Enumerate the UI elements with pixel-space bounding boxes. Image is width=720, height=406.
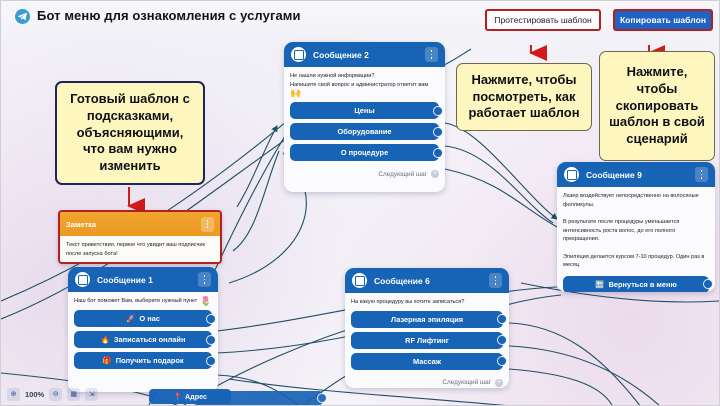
zoom-in-icon[interactable]: ⊕ [7,388,20,401]
card-body: Наш бот поможет Вам, выберите нужный пун… [68,292,218,373]
button-label: Вернуться в меню [609,280,677,289]
card-title: Сообщение 6 [374,276,430,286]
card-header[interactable]: Сообщение 6 [345,268,509,293]
button-label: Получить подарок [116,356,184,365]
add-step-icon[interactable]: + [495,379,503,387]
chart-icon[interactable]: ▦ [67,388,80,401]
output-port[interactable] [497,335,507,345]
output-port[interactable] [206,356,216,366]
output-port[interactable] [433,148,443,158]
button-equipment[interactable]: Оборудование [290,123,439,140]
add-step-icon[interactable]: + [431,170,439,178]
message-text: Не нашли нужной информации? Напишите сво… [290,72,439,89]
button-get-gift[interactable]: 🎁 Получить подарок [74,352,212,369]
button-label: Лазерная эпиляция [391,315,463,324]
button-rf-lifting[interactable]: RF Лифтинг [351,332,503,349]
button-book-online[interactable]: 🔥 Записаться онлайн [74,331,212,348]
address-label: Адрес [185,392,207,401]
gift-icon: 🎁 [102,356,111,365]
card-menu-icon[interactable] [425,47,438,62]
card-menu-icon[interactable] [489,273,502,288]
telegram-icon [15,9,30,24]
button-label: О процедуре [341,148,388,157]
button-label: Цены [354,106,374,115]
callout-left: Готовый шаблон с подсказками, объясняющи… [55,81,205,185]
card-title: Сообщение 1 [97,275,153,285]
output-port[interactable] [433,127,443,137]
button-about-procedure[interactable]: О процедуре [290,144,439,161]
message-text: Наш бот поможет Вам, выберите нужный пун… [74,297,197,306]
message-emoji: 🌷 [200,297,211,306]
card-header[interactable]: Сообщение 2 [284,42,445,67]
note-text: Текст приветствия, первое что увидит ваш… [60,236,220,264]
output-port[interactable] [206,335,216,345]
card-message-2[interactable]: Сообщение 2 Не нашли нужной информации? … [284,42,445,192]
zoom-toolbar[interactable]: ⊕ 100% ⊖ ▦ ⇲ [7,386,98,402]
message-text: Лазер воздействует непосредственно на во… [563,192,709,270]
message-icon [352,273,367,288]
next-step-label: Следующий шаг [378,171,427,178]
card-header[interactable]: Сообщение 9 [557,162,715,187]
next-step-label: Следующий шаг [442,379,491,386]
card-title: Сообщение 2 [313,50,369,60]
card-message-1[interactable]: Сообщение 1 Наш бот поможет Вам, выберит… [68,267,218,392]
message-icon [75,272,90,287]
card-menu-icon[interactable] [198,272,211,287]
message-emoji: 🙌 [290,89,439,98]
output-port[interactable] [497,356,507,366]
page-title: Бот меню для ознакомления с услугами [37,8,301,23]
zoom-level-label: 100% [25,390,44,399]
back-icon: 🔙 [595,280,604,289]
zoom-out-icon[interactable]: ⊖ [49,388,62,401]
card-header[interactable]: Сообщение 1 [68,267,218,292]
pin-icon: 📍 [173,392,182,401]
button-label: Оборудование [337,127,391,136]
button-label: Записаться онлайн [114,335,186,344]
button-label: RF Лифтинг [405,336,449,345]
button-laser-epilation[interactable]: Лазерная эпиляция [351,311,503,328]
message-icon [564,167,579,182]
note-header[interactable]: Заметка [60,212,220,236]
card-message-6[interactable]: Сообщение 6 На какую процедуру вы хотите… [345,268,509,388]
card-message-9[interactable]: Сообщение 9 Лазер воздействует непосредс… [557,162,715,292]
message-text: На какую процедуру вы хотите записаться? [351,298,503,307]
card-title: Сообщение 9 [586,170,642,180]
note-menu-icon[interactable] [201,217,214,232]
button-about-us[interactable]: 🚀 О нас [74,310,212,327]
export-icon[interactable]: ⇲ [85,388,98,401]
note-title: Заметка [66,220,96,229]
output-port[interactable] [497,314,507,324]
canvas: Бот меню для ознакомления с услугами [0,0,720,406]
copy-template-button[interactable]: Копировать шаблон [613,9,713,31]
button-label: О нас [139,314,160,323]
rocket-icon: 🚀 [126,314,135,323]
callout-copy: Нажмите, чтобы скопировать шаблон в свой… [599,51,715,161]
callout-test: Нажмите, чтобы посмотреть, как работает … [456,63,592,131]
button-massage[interactable]: Массаж [351,353,503,370]
card-body: На какую процедуру вы хотите записаться?… [345,293,509,374]
message-icon [291,47,306,62]
next-step-row[interactable]: Следующий шаг + [345,374,509,388]
output-port[interactable] [433,106,443,116]
output-port[interactable] [317,393,327,403]
test-template-button[interactable]: Протестировать шаблон [485,9,601,31]
card-menu-icon[interactable] [695,167,708,182]
fire-icon: 🔥 [101,335,110,344]
address-button[interactable]: 📍 Адрес [149,389,231,404]
output-port[interactable] [206,314,216,324]
button-back-to-menu[interactable]: 🔙 Вернуться в меню [563,276,709,292]
output-port[interactable] [703,279,713,289]
card-body: Лазер воздействует непосредственно на во… [557,187,715,292]
button-label: Массаж [413,357,441,366]
next-step-row[interactable]: Следующий шаг + [284,165,445,183]
note-card[interactable]: Заметка Текст приветствия, первое что ув… [58,210,222,264]
button-prices[interactable]: Цены [290,102,439,119]
card-body: Не нашли нужной информации? Напишите сво… [284,67,445,165]
